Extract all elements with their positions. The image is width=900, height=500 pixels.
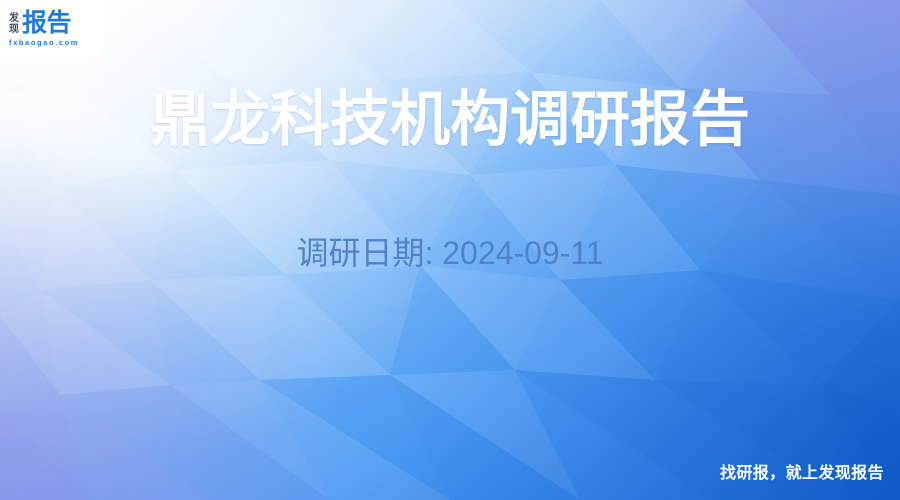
brand-logo[interactable]: 发 现 报告 fxbaogao.com <box>0 0 104 58</box>
report-cover-slide: 发 现 报告 fxbaogao.com 鼎龙科技机构调研报告 调研日期: 202… <box>0 0 900 500</box>
logo-mark-char-1: 发 <box>9 13 19 24</box>
logo-wordmark: 报告 <box>22 10 71 36</box>
logo-url: fxbaogao.com <box>9 38 104 47</box>
footer-slogan: 找研报，就上发现报告 <box>720 464 884 484</box>
page-title: 鼎龙科技机构调研报告 <box>0 84 900 156</box>
logo-wordmark-row: 发 现 报告 <box>9 8 104 36</box>
page-subtitle: 调研日期: 2024-09-11 <box>0 231 900 275</box>
logo-mark-stacked: 发 现 <box>9 13 19 36</box>
logo-mark-char-2: 现 <box>9 24 19 35</box>
